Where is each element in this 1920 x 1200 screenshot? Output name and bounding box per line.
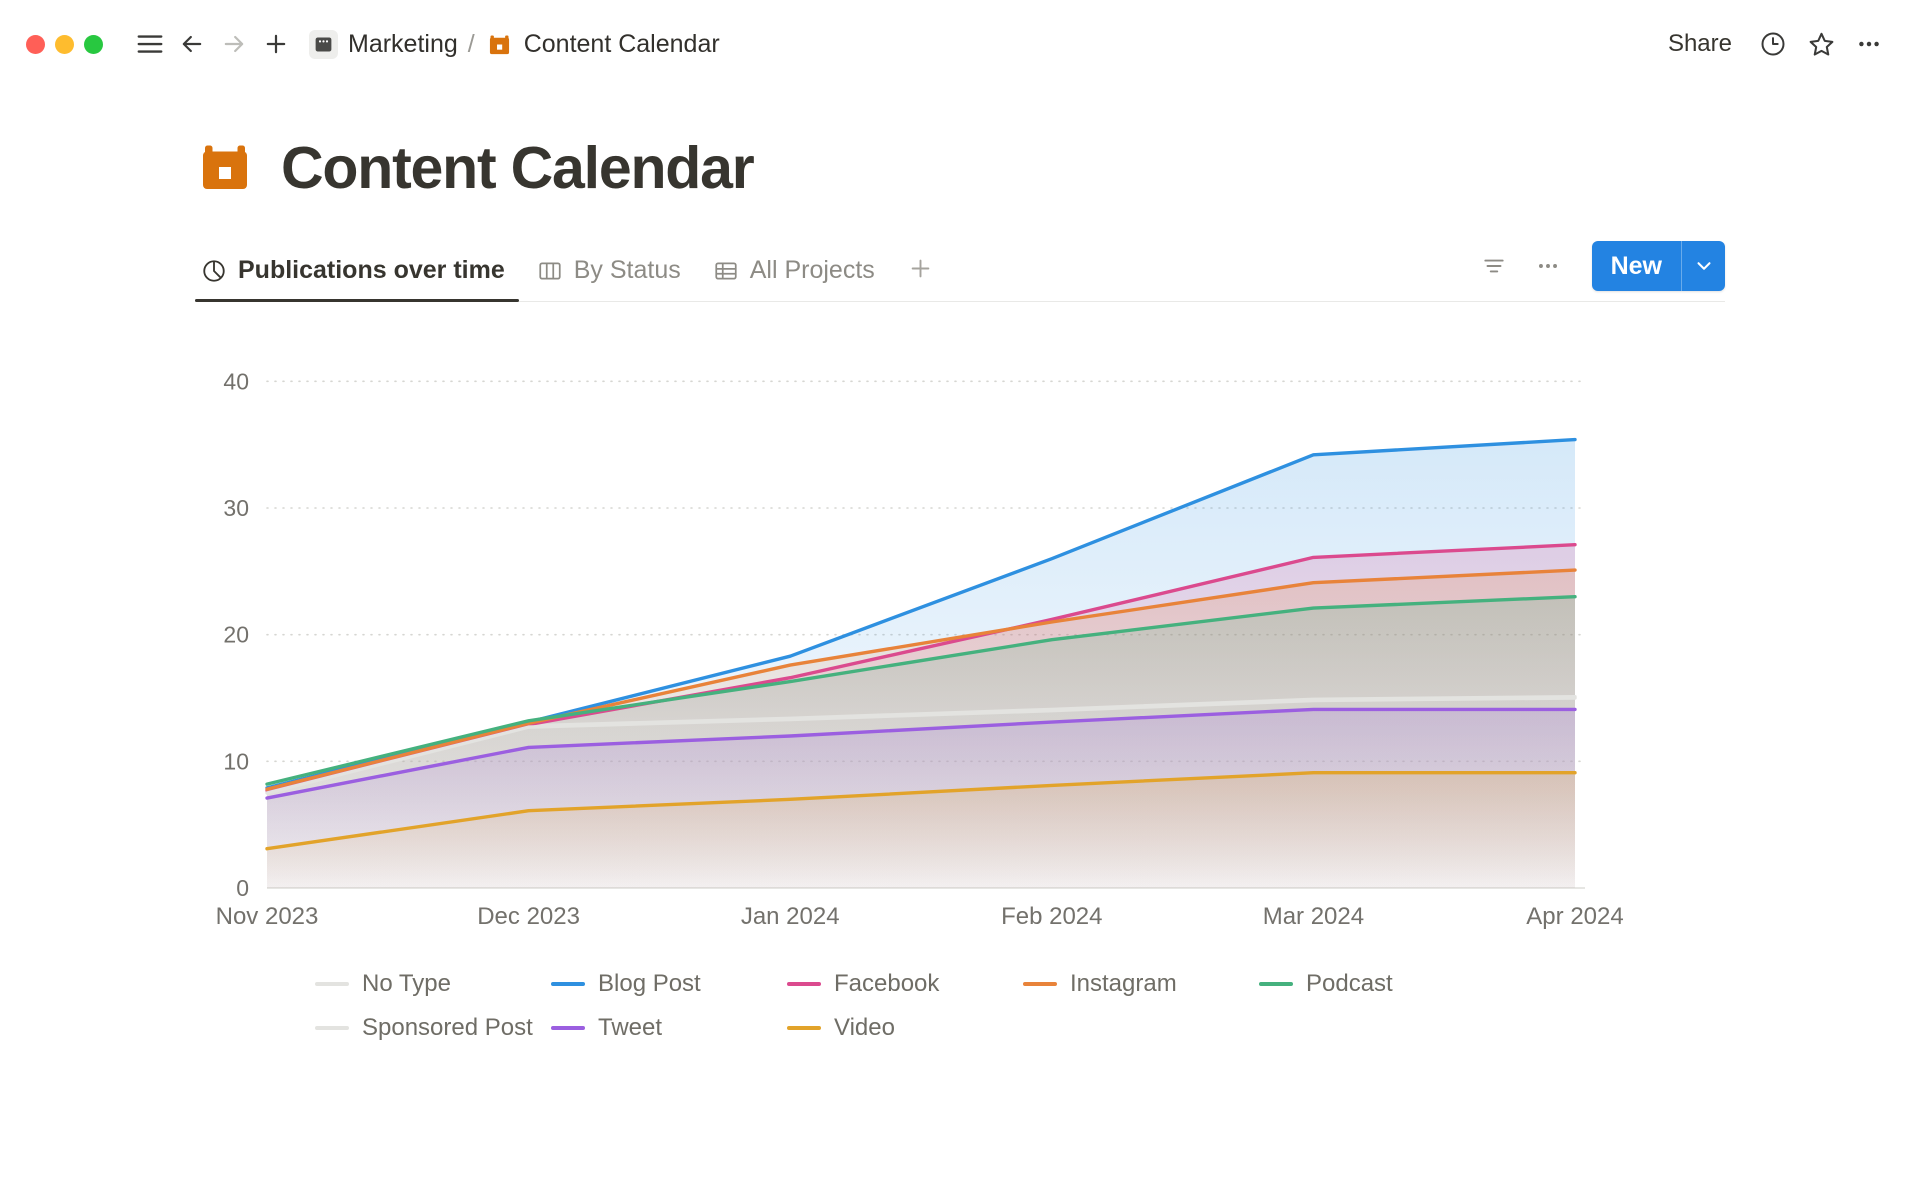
legend-item[interactable]: Instagram: [1023, 970, 1259, 998]
tab-label: Publications over time: [238, 256, 505, 285]
y-axis-tick-label: 0: [236, 875, 249, 901]
legend-label: Video: [834, 1014, 895, 1042]
board-columns-icon: [537, 258, 563, 284]
filter-icon[interactable]: [1474, 246, 1514, 286]
x-axis-tick-label: Apr 2024: [1526, 903, 1623, 930]
share-button[interactable]: Share: [1654, 22, 1746, 66]
forward-icon[interactable]: [213, 23, 255, 65]
titlebar-actions: Share: [1654, 22, 1890, 66]
legend-swatch: [551, 1026, 585, 1030]
legend-item[interactable]: Podcast: [1259, 970, 1495, 998]
page-content: Content Calendar Publications over time: [0, 134, 1920, 1058]
breadcrumb-current-label: Content Calendar: [524, 30, 720, 59]
x-axis-tick-label: Dec 2023: [477, 903, 580, 930]
legend-swatch: [551, 982, 585, 986]
legend-label: Blog Post: [598, 970, 701, 998]
legend-swatch: [1259, 982, 1293, 986]
star-icon[interactable]: [1800, 23, 1842, 65]
legend-label: Facebook: [834, 970, 939, 998]
page-calendar-icon[interactable]: [195, 138, 255, 198]
y-axis-tick-label: 10: [223, 748, 249, 774]
legend-label: No Type: [362, 970, 451, 998]
x-axis-tick-label: Feb 2024: [1001, 903, 1102, 930]
legend-label: Tweet: [598, 1014, 662, 1042]
breadcrumb-item-current[interactable]: Content Calendar: [479, 27, 726, 62]
legend-item[interactable]: Facebook: [787, 970, 1023, 998]
chevron-down-icon[interactable]: [1681, 241, 1725, 291]
tab-label: All Projects: [750, 256, 875, 285]
tab-all-projects[interactable]: All Projects: [707, 240, 889, 301]
window-controls: [26, 35, 103, 54]
breadcrumb-parent-label: Marketing: [348, 30, 458, 59]
y-axis-tick-label: 30: [223, 495, 249, 521]
clock-icon[interactable]: [1752, 23, 1794, 65]
back-icon[interactable]: [171, 23, 213, 65]
x-axis-tick-label: Nov 2023: [216, 903, 319, 930]
new-button[interactable]: New: [1592, 241, 1681, 291]
chart-canvas[interactable]: 010203040Nov 2023Dec 2023Jan 2024Feb 202…: [195, 332, 1725, 952]
legend-label: Instagram: [1070, 970, 1177, 998]
pie-chart-icon: [201, 258, 227, 284]
legend-swatch: [315, 1026, 349, 1030]
sidebar-toggle-icon[interactable]: [129, 23, 171, 65]
y-axis-tick-label: 20: [223, 622, 249, 648]
legend-item[interactable]: Tweet: [551, 1014, 787, 1042]
publications-chart: 010203040Nov 2023Dec 2023Jan 2024Feb 202…: [195, 332, 1725, 952]
board-icon: [309, 30, 338, 59]
legend-swatch: [1023, 982, 1057, 986]
legend-item[interactable]: Video: [787, 1014, 1023, 1042]
tab-by-status[interactable]: By Status: [531, 240, 695, 301]
page-title: Content Calendar: [281, 134, 754, 202]
tab-label: By Status: [574, 256, 681, 285]
legend-item[interactable]: Blog Post: [551, 970, 787, 998]
breadcrumb-item-parent[interactable]: Marketing: [303, 27, 464, 62]
ellipsis-icon[interactable]: [1848, 23, 1890, 65]
legend-label: Sponsored Post: [362, 1014, 533, 1042]
view-tabs: Publications over time By Status: [195, 240, 941, 301]
legend-item[interactable]: Sponsored Post: [315, 1014, 551, 1042]
legend-item[interactable]: No Type: [315, 970, 551, 998]
minimize-window-button[interactable]: [55, 35, 74, 54]
x-axis-tick-label: Mar 2024: [1263, 903, 1364, 930]
breadcrumb: Marketing / Content Calendar: [303, 27, 726, 62]
new-button-group: New: [1592, 241, 1725, 291]
y-axis-tick-label: 40: [223, 368, 249, 394]
breadcrumb-separator: /: [464, 30, 479, 59]
table-icon: [713, 258, 739, 284]
x-axis-tick-label: Jan 2024: [741, 903, 840, 930]
legend-label: Podcast: [1306, 970, 1393, 998]
chart-legend: No TypeBlog PostFacebookInstagramPodcast…: [195, 970, 1615, 1058]
page-header: Content Calendar: [195, 134, 1725, 202]
close-window-button[interactable]: [26, 35, 45, 54]
maximize-window-button[interactable]: [84, 35, 103, 54]
legend-swatch: [315, 982, 349, 986]
legend-swatch: [787, 1026, 821, 1030]
legend-swatch: [787, 982, 821, 986]
window-titlebar: Marketing / Content Calendar Share: [0, 0, 1920, 88]
view-more-icon[interactable]: [1528, 246, 1568, 286]
new-page-icon[interactable]: [255, 23, 297, 65]
add-view-button[interactable]: [901, 240, 941, 301]
tab-publications-over-time[interactable]: Publications over time: [195, 240, 519, 301]
view-tabs-bar: Publications over time By Status: [195, 240, 1725, 302]
calendar-icon: [485, 30, 514, 59]
view-actions: New: [1474, 241, 1725, 301]
